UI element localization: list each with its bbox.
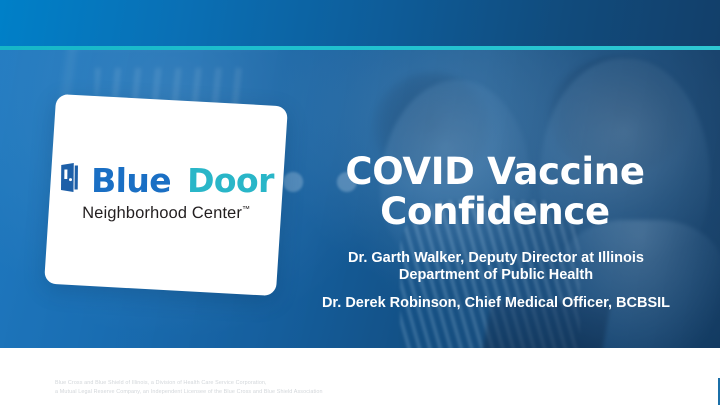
logo-word-door: Door	[187, 164, 274, 197]
logo-subtitle-text: Neighborhood Center	[82, 204, 242, 222]
slide-title-line-1: COVID Vaccine	[300, 152, 690, 192]
logo-subtitle: Neighborhood Center™	[58, 204, 273, 223]
title-block: COVID Vaccine Confidence	[300, 152, 690, 231]
slide-title-line-2: Confidence	[300, 192, 690, 232]
legal-disclaimer: Blue Cross and Blue Shield of Illinois, …	[55, 379, 323, 397]
open-door-icon	[59, 163, 84, 197]
speaker-block: Dr. Garth Walker, Deputy Director at Ill…	[296, 250, 696, 312]
disclaimer-line-2: a Mutual Legal Reserve Company, an Indep…	[55, 388, 323, 397]
disclaimer-line-1: Blue Cross and Blue Shield of Illinois, …	[55, 379, 323, 388]
trademark-symbol: ™	[242, 204, 250, 213]
speaker-two: Dr. Derek Robinson, Chief Medical Office…	[296, 295, 696, 312]
speaker-one-line-2: Department of Public Health	[296, 267, 696, 284]
header-band	[0, 0, 720, 46]
presentation-slide: Blue Door Neighborhood Center™ COVID Vac…	[0, 0, 720, 405]
speaker-one-line-1: Dr. Garth Walker, Deputy Director at Ill…	[296, 250, 696, 267]
logo-wordmark-row: Blue Door	[59, 163, 274, 197]
logo-lockup: Blue Door Neighborhood Center™	[58, 163, 273, 227]
logo-card: Blue Door Neighborhood Center™	[44, 94, 288, 296]
logo-word-blue: Blue	[91, 164, 171, 197]
